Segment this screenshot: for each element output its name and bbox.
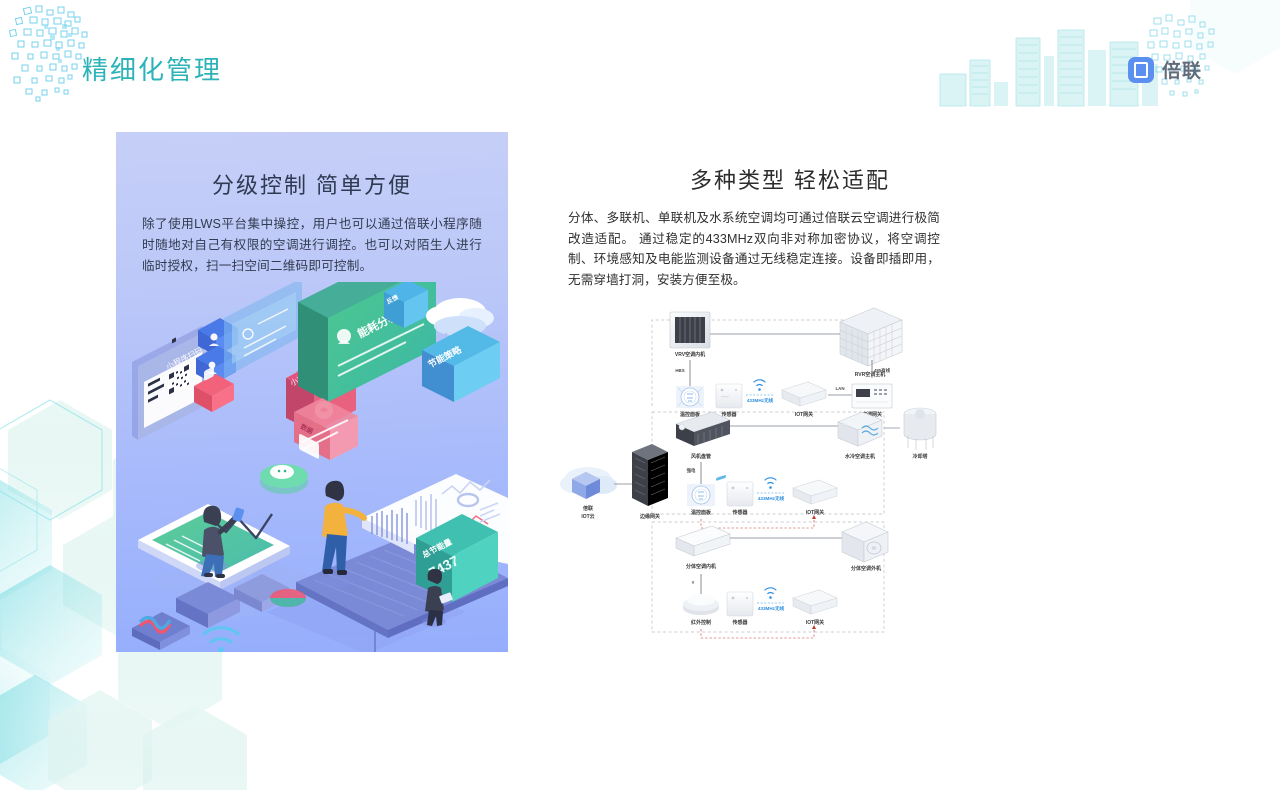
page-title: 精细化管理 [82,50,222,87]
label-edge-gateway: 边缘网关 [639,513,660,520]
device-iot-gateway-water [793,480,837,504]
label-hbs: HBS [675,368,684,373]
brand-mark-icon [1128,57,1154,83]
device-sensor-vrv [716,384,742,408]
device-ir-controller [683,595,719,615]
device-cooling-tower [904,408,936,450]
slide-canvas: 精细化管理 倍联 分级控制 简单方便 除了使用LWS平台集中操控，用户也可以通过… [0,0,1280,720]
left-feature-card: 分级控制 简单方便 除了使用LWS平台集中操控，用户也可以通过倍联小程序随时随地… [116,132,508,652]
hexagon-pattern-top-right [1160,0,1280,110]
label-ir-controller: 红外控制 [691,619,711,626]
label-wireless-split: 433MHz无线 [758,605,785,612]
left-card-heading: 分级控制 简单方便 [116,168,508,200]
label-split-outdoor-unit: 分体空调外机 [851,565,881,572]
dashed-loop-split [701,628,814,638]
label-485: 485有线 [874,367,891,374]
device-thermostat-panel-water [687,484,715,506]
device-thermostat-panel-vrv [676,386,704,408]
device-rvr-outdoor-unit [840,308,902,366]
label-iot-gateway-vrv: IOT网关 [795,411,813,418]
label-cooling-tower: 冷却塔 [912,453,928,460]
label-split-power: # [692,580,695,585]
label-strong-power: 强电 [687,467,696,474]
device-edge-gateway [632,444,668,506]
device-ac-gateway [852,384,892,408]
device-iot-gateway-split [793,590,837,614]
label-vrv-indoor-unit: VRV空调内机 [675,351,705,358]
label-split-indoor-unit: 分体空调内机 [686,563,716,570]
brand-logo: 倍联 [1128,56,1202,83]
wireless-link-split [757,588,785,603]
brand-name: 倍联 [1162,56,1202,83]
device-water-cooled-chiller [838,412,882,446]
label-iot-gateway-split: IOT网关 [806,619,824,626]
right-section-body: 分体、多联机、单联机及水系统空调均可通过倍联云空调进行极简改造适配。 通过稳定的… [568,208,940,290]
left-card-body: 除了使用LWS平台集中操控，用户也可以通过倍联小程序随时随地对自己有权限的空调进… [142,214,482,277]
label-water-cooled-chiller: 水冷空调主机 [844,453,875,460]
label-iot-cloud-line2: IOT云 [581,513,594,520]
device-iot-gateway-vrv [782,382,826,406]
wireless-link-water [757,478,785,493]
label-thermostat-panel-water: 温控面板 [691,509,712,516]
label-iot-cloud-line1: 倍联 [583,505,593,512]
device-vrv-indoor-unit [670,312,710,348]
right-section-heading: 多种类型 轻松适配 [620,163,960,195]
label-wireless-water: 433MHz无线 [758,495,785,502]
label-sensor-split: 传感器 [731,619,748,626]
system-topology-diagram: VRV空调内机 RVR空调主机 HBS [556,300,956,650]
dashed-loop-water [701,518,814,528]
label-iot-gateway-water: IOT网关 [806,509,824,516]
device-sensor-split [727,592,753,616]
device-split-outdoor-unit [842,522,888,562]
label-fan-coil-unit: 风机盘管 [691,453,711,460]
wireless-link-vrv [746,380,774,395]
label-sensor-water: 传感器 [731,509,748,516]
label-wireless-vrv: 433MHz无线 [747,397,774,404]
device-sensor-water [727,482,753,506]
device-iot-cloud [560,467,617,499]
label-lan: LAN [835,386,844,391]
isometric-illustration: 小程序扫码调控 [116,282,508,652]
